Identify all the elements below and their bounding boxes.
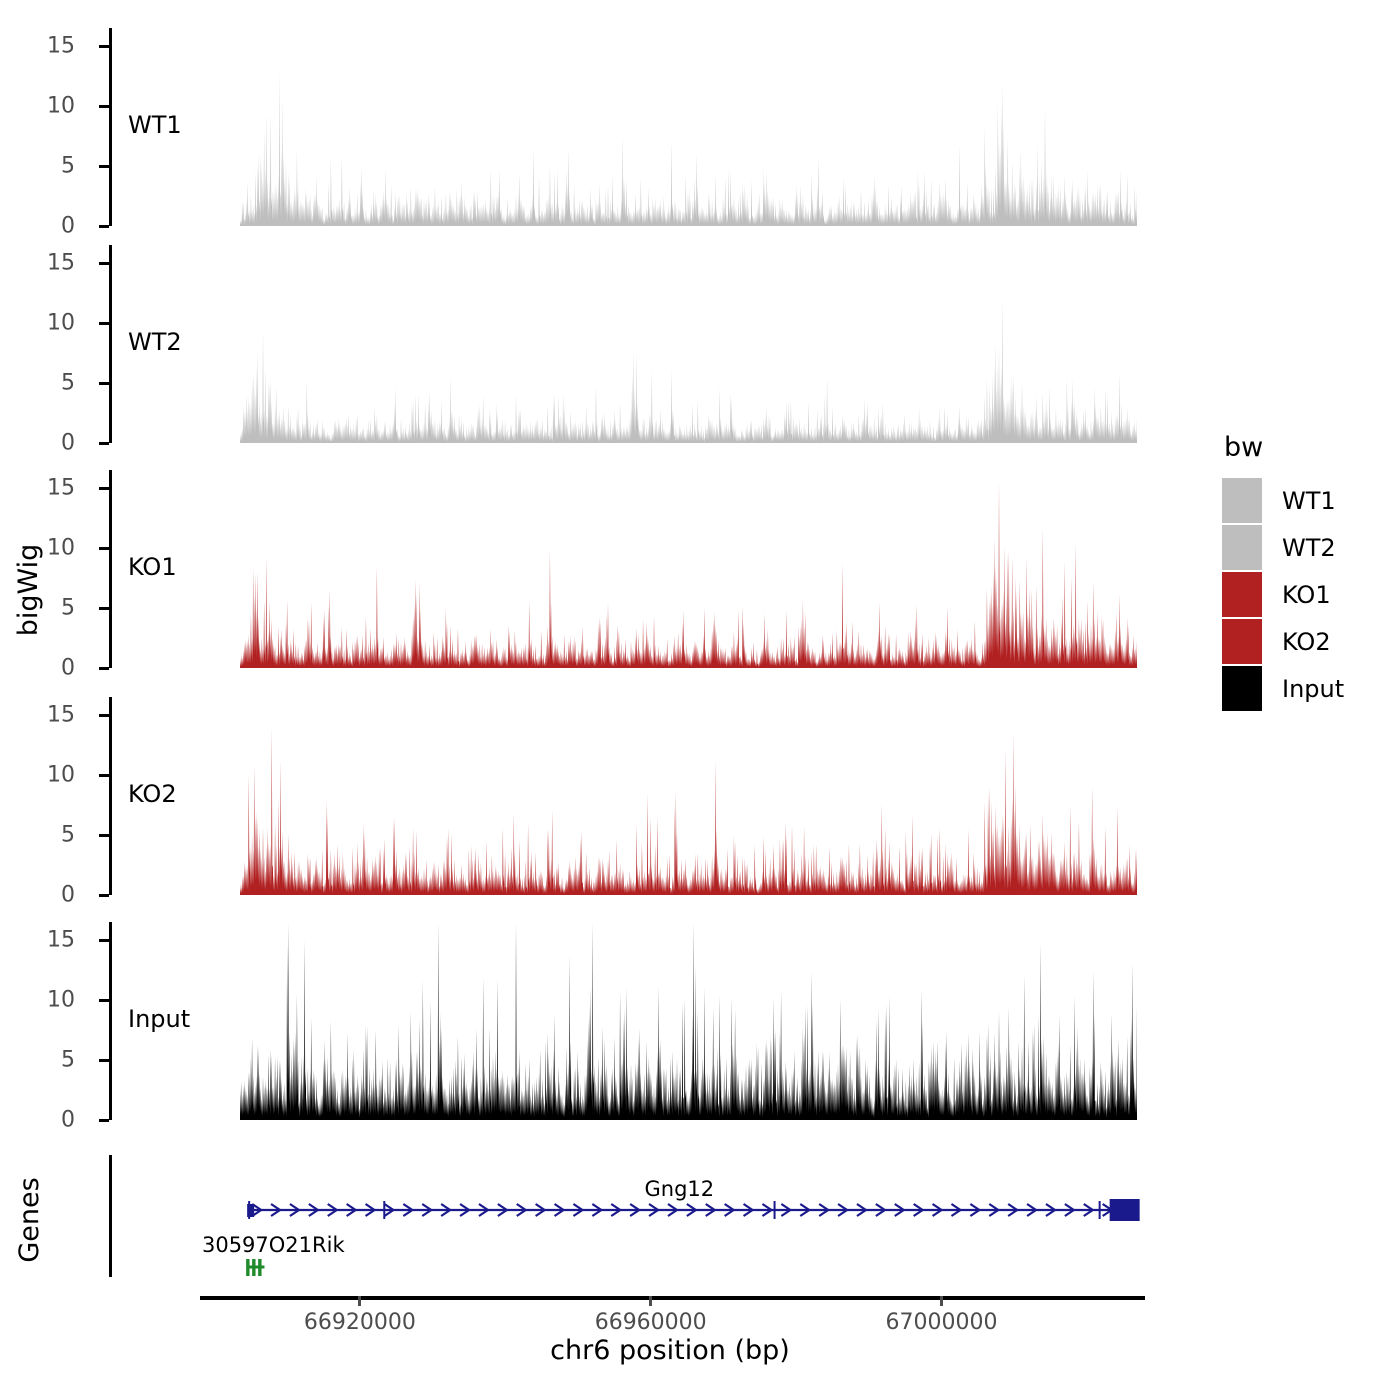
y-ticks-wt1: 051015	[79, 28, 109, 226]
y-tick	[99, 834, 109, 837]
x-tick-label: 67000000	[885, 1310, 997, 1335]
legend-title: bw	[1224, 432, 1397, 463]
y-tick-label: 15	[47, 251, 75, 276]
y-tick	[99, 105, 109, 108]
y-tick-label: 15	[47, 703, 75, 728]
coverage-area	[240, 922, 1137, 1120]
y-tick	[99, 322, 109, 325]
y-tick	[99, 382, 109, 385]
y-tick	[99, 442, 109, 445]
track-label-ko2: KO2	[128, 780, 177, 808]
y-tick-label: 5	[61, 1048, 75, 1073]
bigwig-panel-wt1: 051015WT1	[0, 28, 1180, 226]
y-tick-label: 15	[47, 928, 75, 953]
y-tick	[99, 714, 109, 717]
legend-label: Input	[1282, 675, 1344, 703]
y-tick	[99, 1059, 109, 1062]
y-axis-line-input	[109, 922, 112, 1120]
y-tick	[99, 607, 109, 610]
signal-track-input	[240, 922, 1137, 1120]
signal-track-ko2	[240, 697, 1137, 895]
x-tick-label: 66920000	[304, 1310, 416, 1335]
y-tick-label: 0	[61, 656, 75, 681]
legend-item-ko2[interactable]: KO2	[1222, 618, 1397, 665]
y-tick-label: 5	[61, 596, 75, 621]
y-tick-label: 15	[47, 476, 75, 501]
signal-track-wt1	[240, 28, 1137, 226]
y-tick	[99, 999, 109, 1002]
y-tick-label: 10	[47, 763, 75, 788]
bigwig-panel-ko1: 051015KO1	[0, 470, 1180, 668]
signal-track-ko1	[240, 470, 1137, 668]
legend-item-ko1[interactable]: KO1	[1222, 571, 1397, 618]
y-tick-label: 0	[61, 431, 75, 456]
legend-swatch-ko2	[1222, 619, 1262, 664]
y-tick-label: 0	[61, 883, 75, 908]
y-tick-label: 5	[61, 371, 75, 396]
track-label-wt2: WT2	[128, 328, 182, 356]
y-tick	[99, 894, 109, 897]
bigwig-panel-wt2: 051015WT2	[0, 245, 1180, 443]
genes-track-panel: Gng1230597O21Rik	[0, 1155, 1180, 1300]
x-axis-title: chr6 position (bp)	[200, 1335, 1140, 1366]
coverage-area	[240, 482, 1137, 668]
gene-terminal-exon	[1110, 1199, 1140, 1221]
coverage-area	[240, 297, 1137, 443]
y-tick-label: 10	[47, 311, 75, 336]
y-tick	[99, 45, 109, 48]
legend-item-wt2[interactable]: WT2	[1222, 524, 1397, 571]
secondary-gene-exon	[252, 1259, 255, 1276]
y-ticks-wt2: 051015	[79, 245, 109, 443]
x-tick	[940, 1296, 943, 1306]
legend-label: WT2	[1282, 534, 1336, 562]
legend: bw WT1WT2KO1KO2Input	[1222, 432, 1397, 712]
secondary-gene-exon	[258, 1259, 261, 1276]
y-tick-label: 0	[61, 1108, 75, 1133]
y-axis-line-wt2	[109, 245, 112, 443]
y-tick	[99, 939, 109, 942]
genes-plot-area: Gng1230597O21Rik	[200, 1155, 1145, 1300]
gene-label-gng12: Gng12	[645, 1177, 715, 1201]
coverage-area	[240, 728, 1137, 895]
y-ticks-input: 051015	[79, 922, 109, 1120]
y-tick-label: 0	[61, 214, 75, 239]
y-ticks-ko1: 051015	[79, 470, 109, 668]
y-tick	[99, 547, 109, 550]
y-tick	[99, 165, 109, 168]
signal-track-wt2	[240, 245, 1137, 443]
gene-label-secondary: 30597O21Rik	[202, 1233, 345, 1257]
y-axis-line-ko2	[109, 697, 112, 895]
bigwig-panel-input: 051015Input	[0, 922, 1180, 1120]
track-label-wt1: WT1	[128, 111, 182, 139]
x-tick-label: 66960000	[595, 1310, 707, 1335]
track-label-ko1: KO1	[128, 553, 177, 581]
y-tick-label: 10	[47, 988, 75, 1013]
y-ticks-ko2: 051015	[79, 697, 109, 895]
legend-swatch-input	[1222, 666, 1262, 711]
x-tick	[649, 1296, 652, 1306]
y-tick	[99, 774, 109, 777]
legend-swatch-ko1	[1222, 572, 1262, 617]
y-tick	[99, 1119, 109, 1122]
y-tick-label: 10	[47, 536, 75, 561]
legend-label: KO2	[1282, 628, 1331, 656]
y-tick-label: 10	[47, 94, 75, 119]
legend-label: WT1	[1282, 487, 1336, 515]
y-tick	[99, 262, 109, 265]
x-tick	[358, 1296, 361, 1306]
y-tick	[99, 667, 109, 670]
gene-start-block	[247, 1204, 254, 1217]
bigwig-panel-ko2: 051015KO2	[0, 697, 1180, 895]
y-tick-label: 5	[61, 154, 75, 179]
y-axis-line-ko1	[109, 470, 112, 668]
coverage-area	[240, 73, 1137, 226]
y-tick-label: 5	[61, 823, 75, 848]
y-tick-label: 15	[47, 34, 75, 59]
legend-items: WT1WT2KO1KO2Input	[1222, 477, 1397, 712]
legend-item-input[interactable]: Input	[1222, 665, 1397, 712]
genes-axis-line	[109, 1155, 112, 1277]
legend-item-wt1[interactable]: WT1	[1222, 477, 1397, 524]
x-axis-line	[200, 1296, 1145, 1300]
secondary-gene-exon	[246, 1259, 249, 1276]
y-tick	[99, 225, 109, 228]
y-axis-line-wt1	[109, 28, 112, 226]
legend-label: KO1	[1282, 581, 1331, 609]
track-label-input: Input	[128, 1005, 190, 1033]
y-tick	[99, 487, 109, 490]
legend-swatch-wt2	[1222, 525, 1262, 570]
legend-swatch-wt1	[1222, 478, 1262, 523]
